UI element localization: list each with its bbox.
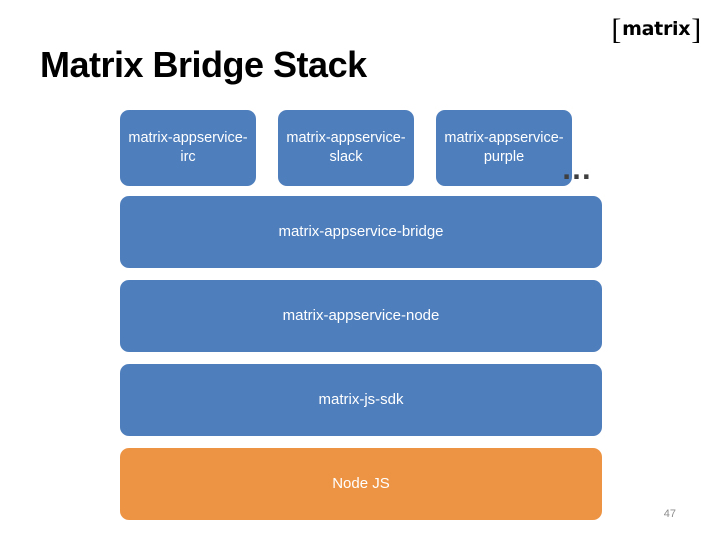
box-matrix-appservice-purple: matrix-appservice-purple: [436, 110, 572, 186]
layer-matrix-appservice-node: matrix-appservice-node: [120, 280, 602, 352]
layer-node-js: Node JS: [120, 448, 602, 520]
stack-layers: matrix-appservice-bridge matrix-appservi…: [120, 196, 602, 520]
ellipsis-more-bridges: …: [561, 151, 593, 187]
layer-matrix-appservice-bridge: matrix-appservice-bridge: [120, 196, 602, 268]
page-number: 47: [664, 508, 676, 520]
matrix-logo: [ matrix ]: [610, 16, 702, 44]
logo-right-bracket: ]: [691, 16, 701, 44]
box-matrix-appservice-slack: matrix-appservice-slack: [278, 110, 414, 186]
bridge-implementations-row: matrix-appservice-irc matrix-appservice-…: [120, 110, 572, 186]
logo-wordmark: matrix: [622, 20, 690, 39]
slide: [ matrix ] Matrix Bridge Stack matrix-ap…: [0, 0, 720, 540]
layer-matrix-js-sdk: matrix-js-sdk: [120, 364, 602, 436]
logo-left-bracket: [: [611, 16, 621, 44]
page-title: Matrix Bridge Stack: [40, 44, 367, 86]
box-matrix-appservice-irc: matrix-appservice-irc: [120, 110, 256, 186]
